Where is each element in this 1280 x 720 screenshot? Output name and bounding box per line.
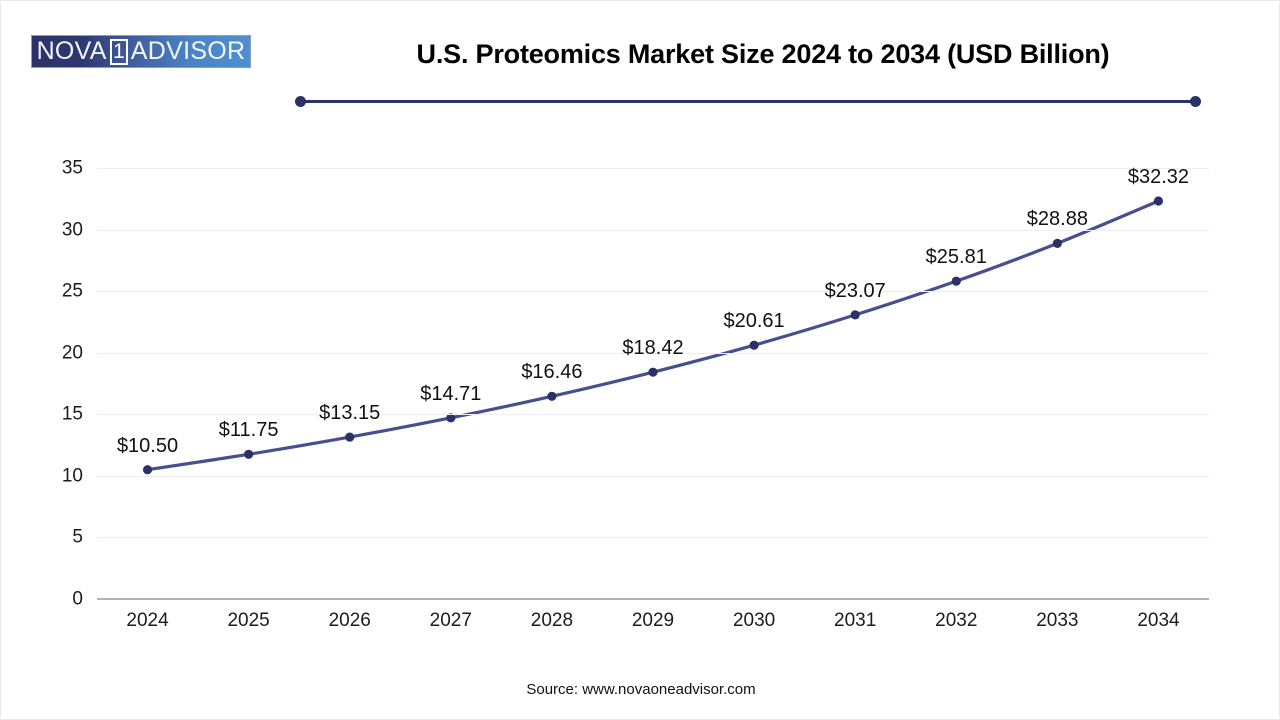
x-axis-tick-label: 2033 [1012, 611, 1102, 630]
y-axis-tick-label: 25 [37, 282, 83, 301]
nova-one-advisor-logo: NOVA 1 ADVISOR [31, 35, 251, 68]
plot-area: $10.50$11.75$13.15$14.71$16.46$18.42$20.… [97, 168, 1209, 599]
gridline [97, 168, 1209, 169]
data-point-label: $25.81 [896, 247, 1016, 267]
x-axis-tick-label: 2031 [810, 611, 900, 630]
data-point-marker[interactable] [952, 277, 961, 286]
chart-title: U.S. Proteomics Market Size 2024 to 2034… [263, 39, 1263, 70]
y-axis-tick-label: 30 [37, 220, 83, 239]
y-axis-tick-label: 15 [37, 405, 83, 424]
x-axis-tick-label: 2032 [911, 611, 1001, 630]
y-axis-tick-label: 10 [37, 466, 83, 485]
y-axis-tick-label: 0 [37, 590, 83, 609]
x-axis-tick-label: 2027 [406, 611, 496, 630]
source-caption: Source: www.novaoneadvisor.com [1, 681, 1280, 698]
y-axis-tick-label: 35 [37, 159, 83, 178]
logo-badge-one: 1 [110, 39, 128, 65]
data-point-marker[interactable] [648, 368, 657, 377]
series-svg [97, 168, 1209, 599]
data-point-label: $28.88 [997, 209, 1117, 229]
gridline [97, 414, 1209, 415]
x-axis-tick-label: 2025 [204, 611, 294, 630]
x-axis-tick-label: 2028 [507, 611, 597, 630]
x-axis-tick-label: 2034 [1113, 611, 1203, 630]
y-axis-tick-label: 5 [37, 528, 83, 547]
x-axis: 2024202520262027202820292030203120322033… [97, 611, 1209, 637]
y-axis: 05101520253035 [31, 168, 83, 599]
x-axis-tick-label: 2029 [608, 611, 698, 630]
y-axis-tick-label: 20 [37, 343, 83, 362]
data-point-label: $11.75 [189, 420, 309, 440]
data-point-label: $18.42 [593, 338, 713, 358]
data-point-label: $23.07 [795, 281, 915, 301]
data-point-marker[interactable] [345, 432, 354, 441]
data-point-marker[interactable] [244, 450, 253, 459]
gridline [97, 291, 1209, 292]
data-point-marker[interactable] [851, 310, 860, 319]
x-axis-tick-label: 2030 [709, 611, 799, 630]
x-axis-tick-label: 2024 [103, 611, 193, 630]
data-point-label: $16.46 [492, 362, 612, 382]
data-point-label: $32.32 [1098, 167, 1218, 187]
data-point-marker[interactable] [547, 392, 556, 401]
chart-legend [295, 95, 1201, 108]
legend-line [300, 100, 1196, 103]
chart-page: NOVA 1 ADVISOR U.S. Proteomics Market Si… [0, 0, 1280, 720]
logo-text-advisor: ADVISOR [131, 39, 246, 64]
logo-text-nova: NOVA [37, 39, 107, 64]
legend-marker-right [1190, 96, 1201, 107]
data-point-marker[interactable] [749, 341, 758, 350]
legend-marker-left [295, 96, 306, 107]
data-point-marker[interactable] [143, 465, 152, 474]
data-point-label: $13.15 [290, 403, 410, 423]
data-point-marker[interactable] [1053, 239, 1062, 248]
gridline [97, 476, 1209, 477]
data-point-marker[interactable] [1154, 196, 1163, 205]
data-point-label: $14.71 [391, 384, 511, 404]
data-point-label: $20.61 [694, 311, 814, 331]
gridline [97, 537, 1209, 538]
x-axis-tick-label: 2026 [305, 611, 395, 630]
